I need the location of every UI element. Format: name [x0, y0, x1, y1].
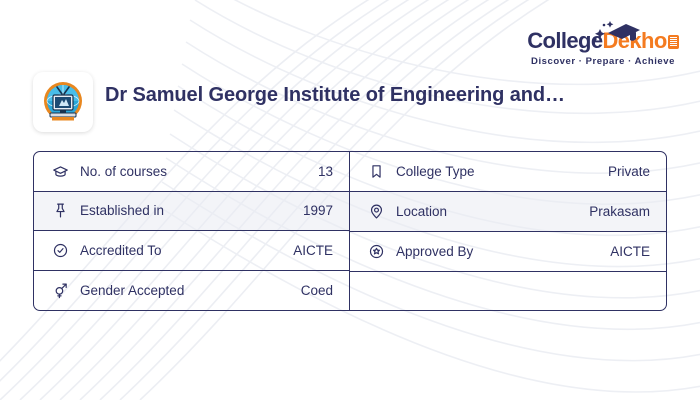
row-value: AICTE	[610, 244, 650, 259]
college-info-table: No. of courses 13 Established in 1997	[33, 151, 667, 311]
bookmark-icon	[364, 163, 388, 180]
row-value: 13	[318, 164, 333, 179]
award-badge-icon	[364, 243, 388, 260]
page-title: Dr Samuel George Institute of Engineerin…	[105, 84, 630, 107]
row-label: No. of courses	[80, 164, 167, 179]
row-value: AICTE	[293, 243, 333, 258]
row-value: Coed	[301, 283, 333, 298]
graduation-cap-icon	[586, 20, 642, 44]
row-label: Established in	[80, 203, 164, 218]
card-header: Dr Samuel George Institute of Engineerin…	[0, 0, 700, 150]
row-label: Approved By	[396, 244, 473, 259]
college-emblem-icon	[40, 79, 86, 125]
table-row: No. of courses 13	[34, 152, 349, 192]
table-row-empty	[350, 272, 666, 310]
pin-icon	[48, 202, 72, 219]
table-row: Established in 1997	[34, 192, 349, 232]
row-label: Location	[396, 204, 447, 219]
check-circle-icon	[48, 242, 72, 259]
row-label: Gender Accepted	[80, 283, 184, 298]
row-value: Private	[608, 164, 650, 179]
row-value: Prakasam	[589, 204, 650, 219]
graduation-cap-icon	[48, 163, 72, 180]
row-label: Accredited To	[80, 243, 162, 258]
table-row: Gender Accepted Coed	[34, 271, 349, 310]
info-column-right: College Type Private Location Prakasam	[350, 152, 666, 310]
college-logo	[33, 72, 93, 132]
table-row: Approved By AICTE	[350, 232, 666, 272]
brand-book-icon	[668, 35, 679, 49]
row-label: College Type	[396, 164, 475, 179]
row-value: 1997	[303, 203, 333, 218]
college-info-card: Dr Samuel George Institute of Engineerin…	[0, 0, 700, 400]
gender-icon	[48, 282, 72, 299]
table-row: Accredited To AICTE	[34, 231, 349, 271]
brand-tagline: Discover · Prepare · Achieve	[524, 56, 682, 67]
collegedekho-logo[interactable]: CollegeDekho Discover · Prepare · Achiev…	[524, 28, 682, 67]
map-pin-icon	[364, 203, 388, 220]
table-row: College Type Private	[350, 152, 666, 192]
table-row: Location Prakasam	[350, 192, 666, 232]
info-column-left: No. of courses 13 Established in 1997	[34, 152, 350, 310]
